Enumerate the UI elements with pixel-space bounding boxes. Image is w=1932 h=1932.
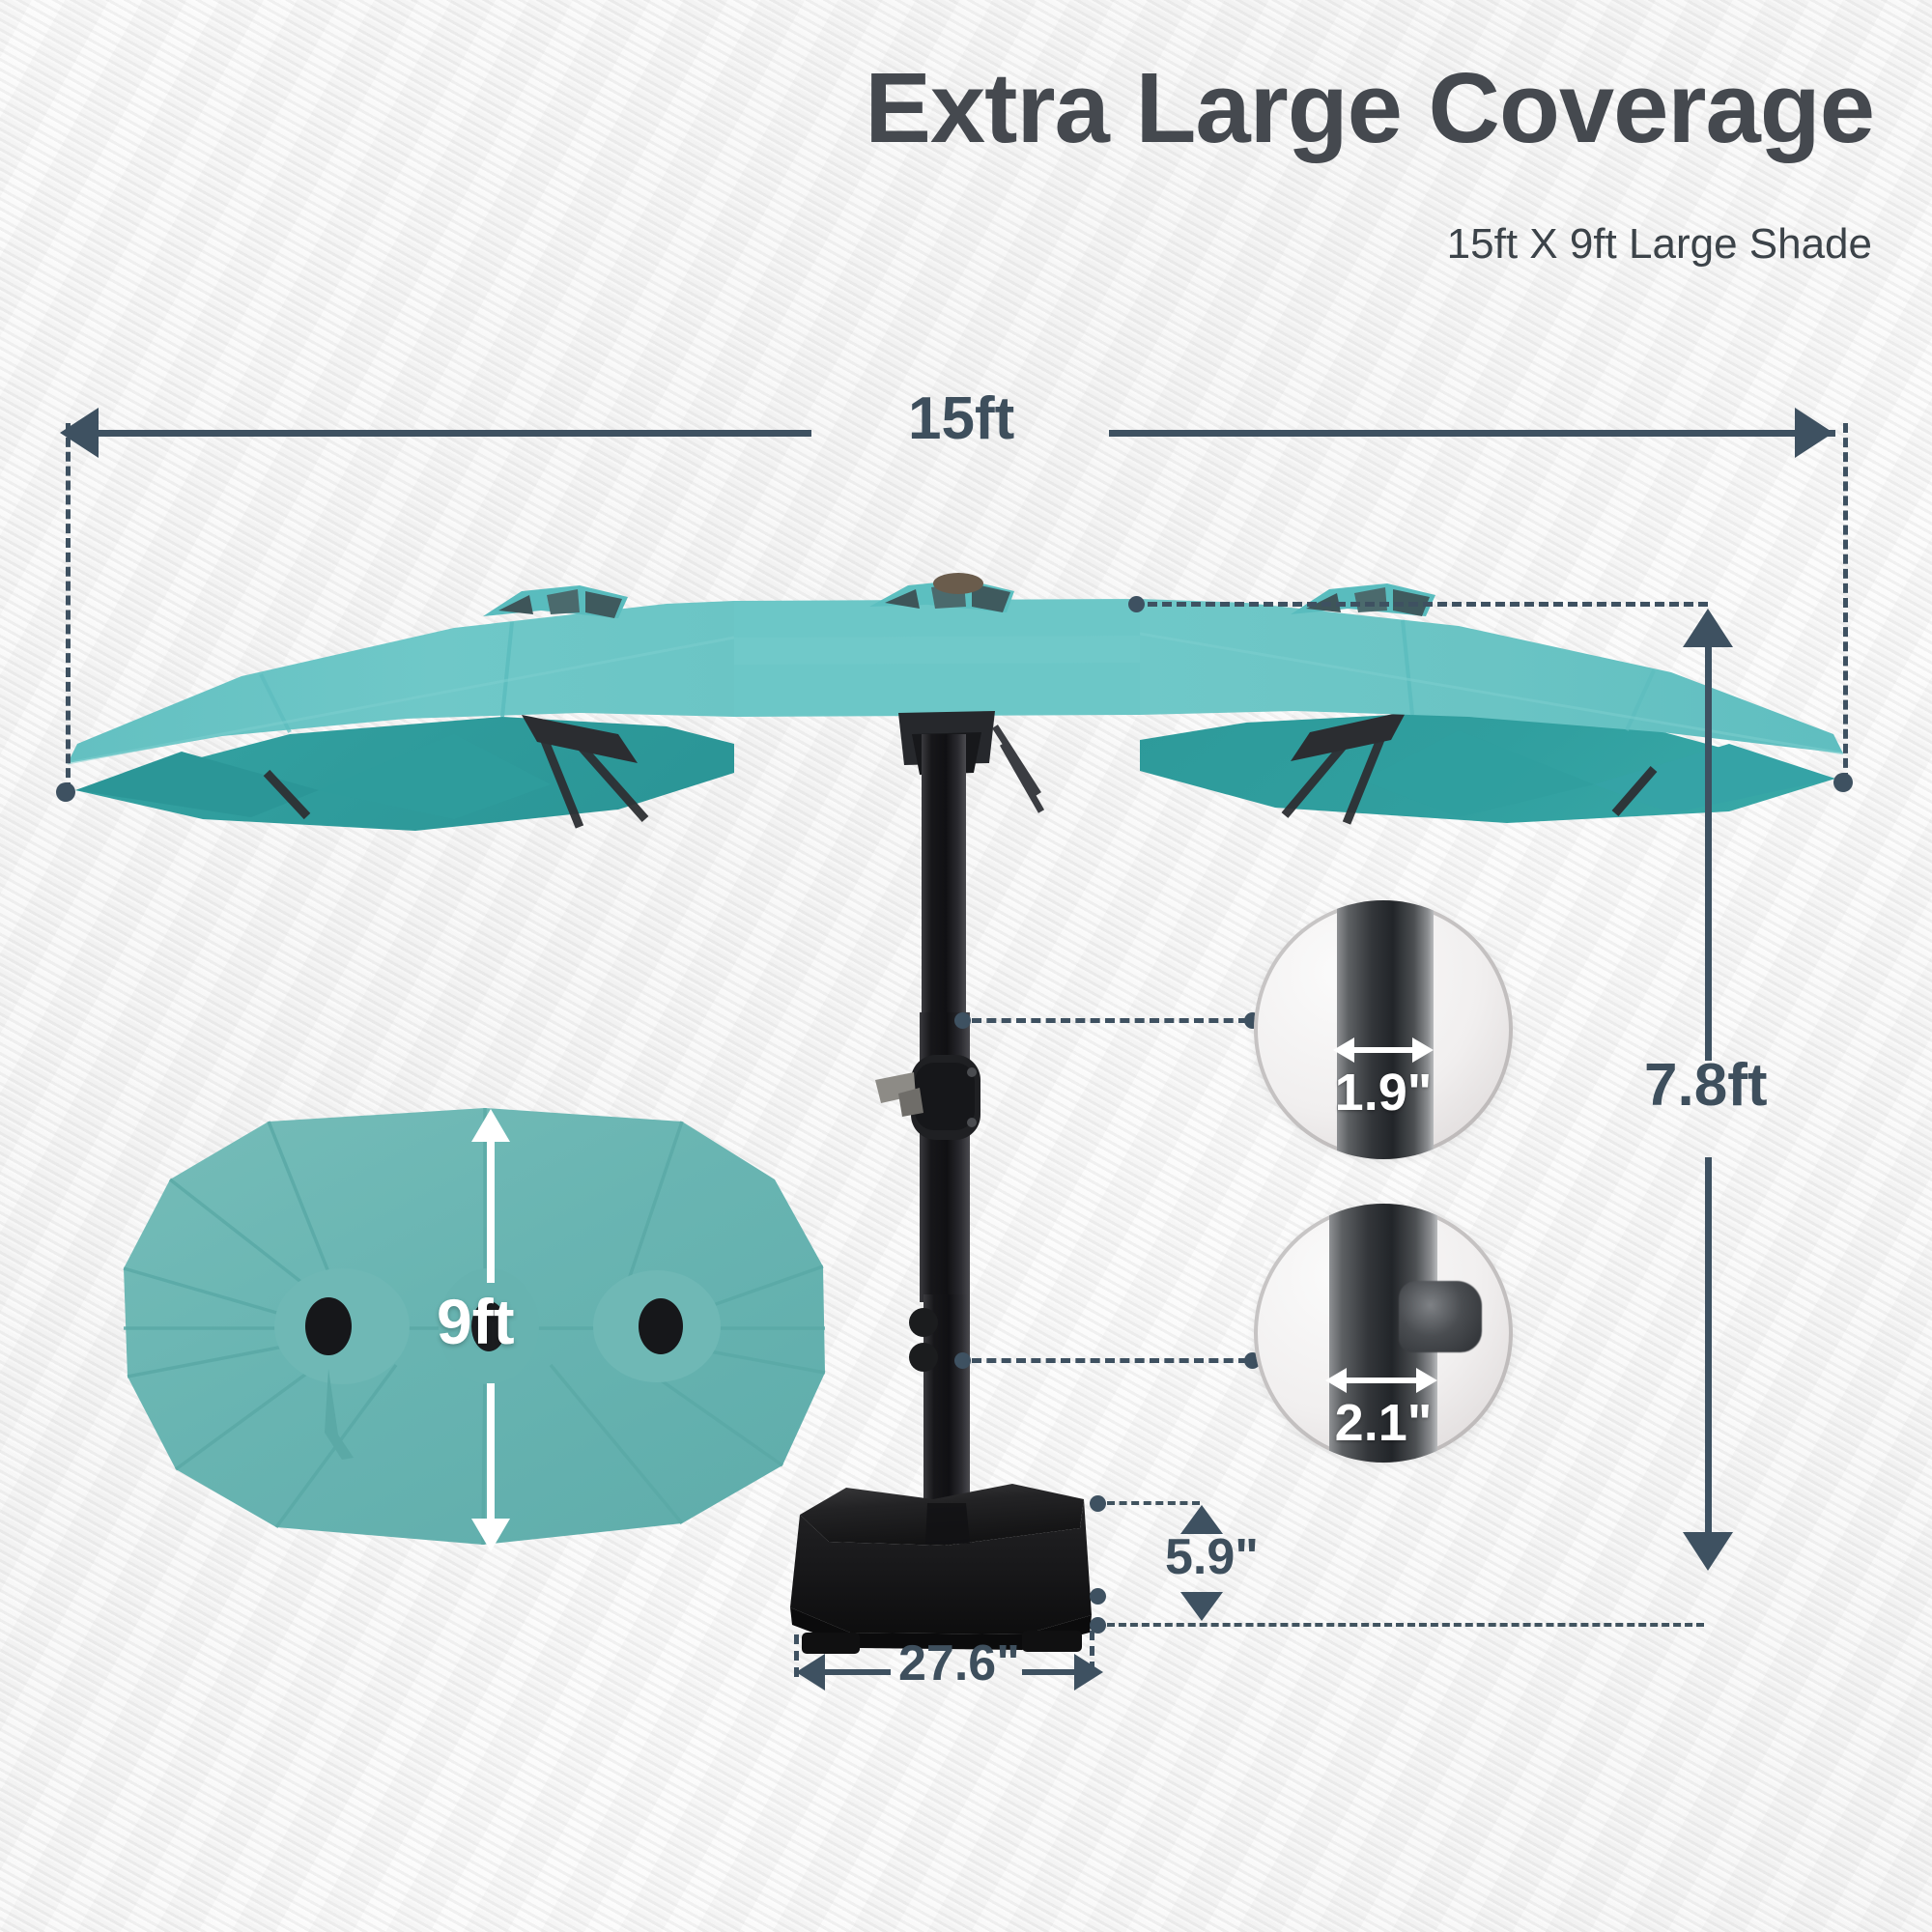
width-label: 15ft — [908, 384, 1014, 453]
crank-knob-icon — [1399, 1281, 1482, 1352]
height-line-lower — [1705, 1157, 1712, 1532]
base-bottom-guide-dot-upper — [1090, 1588, 1106, 1605]
width-arrow-right — [1795, 408, 1833, 458]
page-subtitle: 15ft X 9ft Large Shade — [0, 220, 1872, 269]
canopy-top-guide-line — [1148, 602, 1708, 607]
upper-pole-guide-line — [972, 1018, 1248, 1023]
height-arrow-down — [1683, 1532, 1733, 1571]
callout1-measure-line — [1350, 1047, 1418, 1053]
callout2-arrow-right — [1416, 1368, 1437, 1393]
width-line-left — [97, 430, 811, 437]
base-width-line-left — [823, 1669, 891, 1675]
base-top-guide-dot — [1090, 1495, 1106, 1512]
left-extent-guide — [66, 423, 71, 792]
height-arrow-up — [1683, 609, 1733, 647]
upper-pole-detail-circle: 1.9" — [1254, 900, 1513, 1159]
right-extent-guide — [1843, 423, 1848, 782]
lower-pole-guide-line — [972, 1358, 1248, 1363]
lower-pole-guide-dot — [954, 1352, 971, 1369]
width-line-right — [1109, 430, 1835, 437]
depth-arrow-up — [471, 1109, 510, 1142]
base-width-label: 27.6" — [898, 1634, 1020, 1692]
left-extent-dot — [56, 782, 75, 802]
callout1-arrow-right — [1412, 1037, 1434, 1063]
width-arrow-left — [60, 408, 99, 458]
depth-line-upper — [487, 1140, 495, 1283]
right-extent-dot — [1833, 773, 1853, 792]
base-width-arrow-right — [1074, 1654, 1103, 1690]
upper-pole-guide-dot — [954, 1012, 971, 1029]
base-height-label: 5.9" — [1165, 1528, 1259, 1586]
callout2-measure-line — [1343, 1378, 1422, 1383]
base-width-arrow-left — [796, 1654, 825, 1690]
base-height-arrow-down — [1180, 1592, 1223, 1621]
height-label: 7.8ft — [1644, 1051, 1767, 1120]
depth-arrow-down — [471, 1519, 510, 1551]
upper-pole-diameter-label: 1.9" — [1254, 1063, 1513, 1122]
lower-pole-diameter-label: 2.1" — [1254, 1393, 1513, 1453]
depth-line-lower — [487, 1383, 495, 1519]
base-width-line-right — [1022, 1669, 1078, 1675]
height-line-upper — [1705, 645, 1712, 1061]
lower-pole-detail-circle: 2.1" — [1254, 1204, 1513, 1463]
canopy-top-guide-dot — [1128, 596, 1145, 612]
base-bottom-guide-line — [1107, 1623, 1704, 1627]
page-title: Extra Large Coverage — [0, 56, 1874, 160]
depth-label: 9ft — [437, 1285, 515, 1358]
